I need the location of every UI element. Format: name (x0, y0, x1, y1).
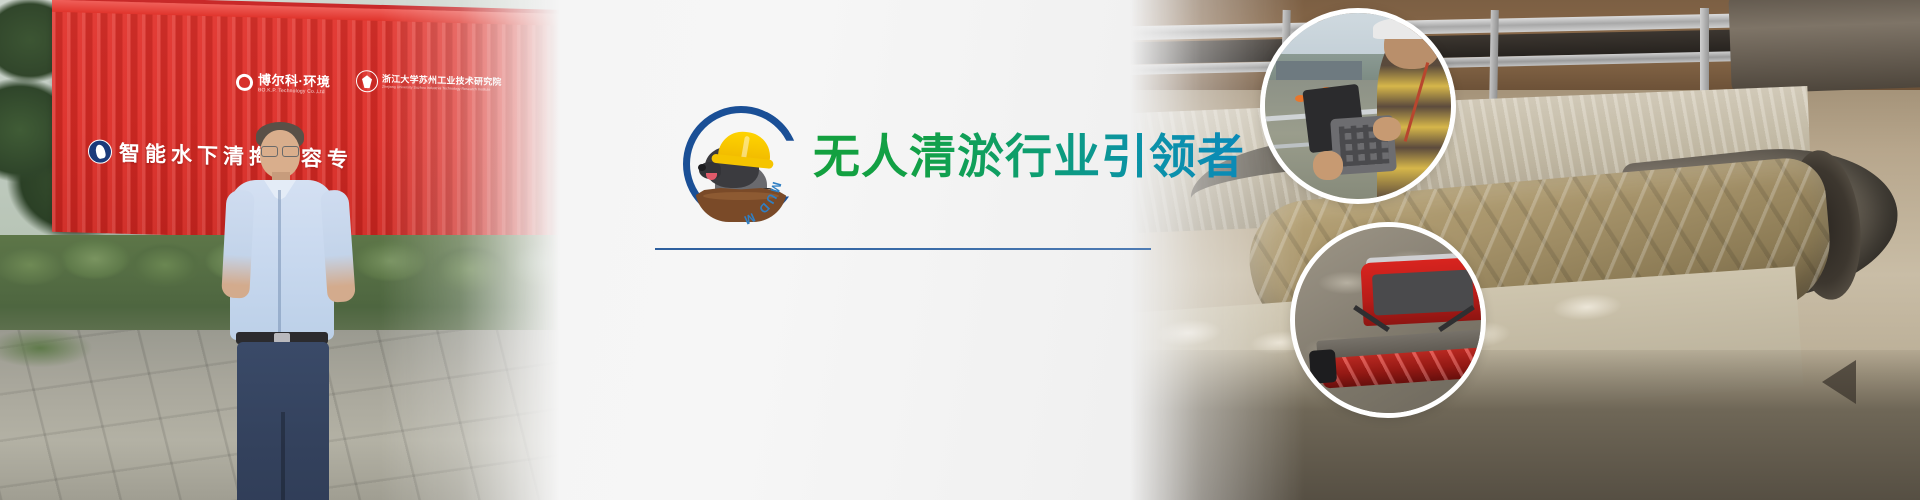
mud-mole-logo: MUD MOLE (677, 100, 805, 228)
operator-remote-control-photo (1260, 8, 1456, 204)
eyeglasses-icon (261, 146, 299, 155)
engineer-portrait (222, 118, 352, 500)
background-pipe (1728, 0, 1920, 94)
foreground-ground (1130, 350, 1920, 500)
logo-arc-text: MUD MOLE (677, 100, 805, 228)
left-arm (221, 189, 255, 298)
container-brand-lockup: 博尔科·环境 BO.K.P. Technology Co.,Ltd (236, 73, 330, 95)
logo-arc-textpath: MUD MOLE (677, 100, 784, 228)
logo-arc-label: MUD MOLE (677, 100, 784, 228)
grass-edge (0, 318, 120, 378)
container-partner-lockup: 浙江大学苏州工业技术研究院 Zhejiang University Suzhou… (356, 70, 502, 96)
trousers (237, 342, 329, 500)
university-seal-icon (356, 70, 378, 93)
operator-cap (1373, 17, 1447, 39)
banner-center-content: MUD MOLE 无人清淤行业引领者 (655, 0, 1175, 500)
title-divider (655, 248, 1151, 250)
arrow-shape (1822, 360, 1856, 404)
sludge-discharge-pipe-photo (1130, 0, 1920, 500)
dredging-robot-photo (1290, 222, 1486, 418)
shirt-placket (278, 190, 281, 338)
rail-post (1489, 10, 1499, 106)
operator-hand-left (1313, 151, 1343, 181)
slogan-badge-icon (88, 139, 112, 164)
operator-hand-right (1373, 117, 1401, 141)
borke-logo-icon (236, 74, 253, 91)
engineer-with-red-container-photo: 博尔科·环境 BO.K.P. Technology Co.,Ltd 浙江大学苏州… (0, 0, 560, 500)
robot-interior (1372, 269, 1474, 315)
promotional-banner: 博尔科·环境 BO.K.P. Technology Co.,Ltd 浙江大学苏州… (0, 0, 1920, 500)
page-title: 无人清淤行业引领者 (813, 118, 1245, 187)
auger-end-cap (1309, 349, 1337, 384)
